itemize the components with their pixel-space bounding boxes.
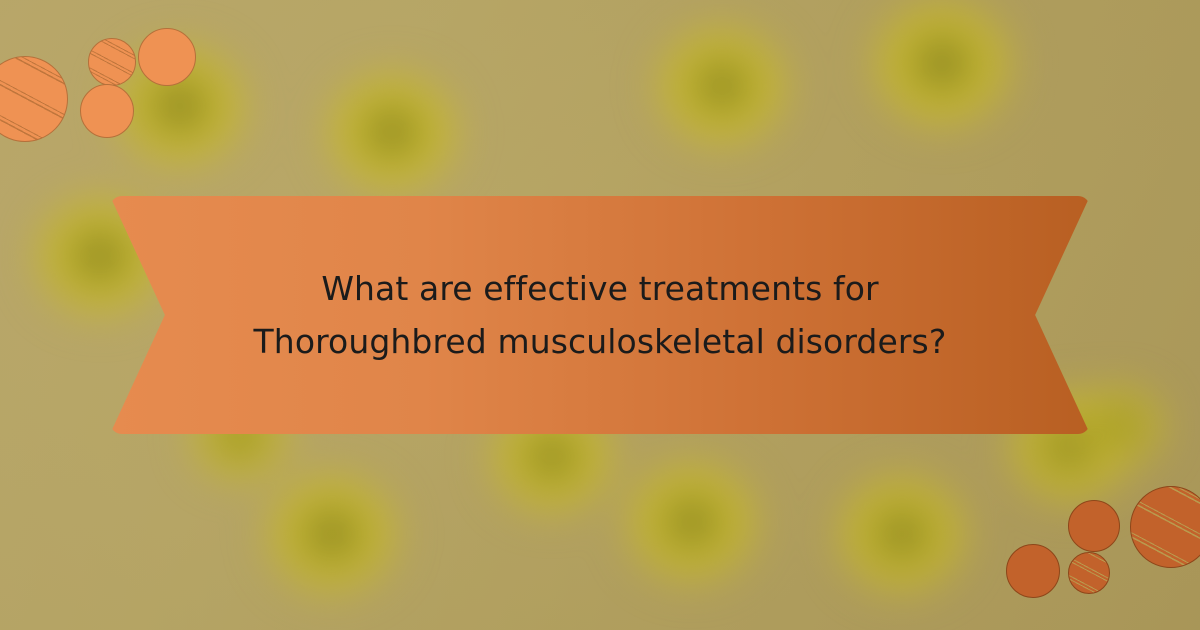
social-card-canvas: What are effective treatments for Thorou…: [0, 0, 1200, 630]
question-ribbon-banner: What are effective treatments for Thorou…: [110, 196, 1090, 434]
decorative-circle-plain-medium: [80, 84, 134, 138]
question-text: What are effective treatments for Thorou…: [240, 262, 960, 369]
decorative-circle-plain-large: [1006, 544, 1060, 598]
decorative-circle-striped-small: [88, 38, 136, 86]
decorative-circle-plain-large: [138, 28, 196, 86]
decorative-circle-striped-small: [1068, 552, 1110, 594]
decorative-circle-plain-medium: [1068, 500, 1120, 552]
